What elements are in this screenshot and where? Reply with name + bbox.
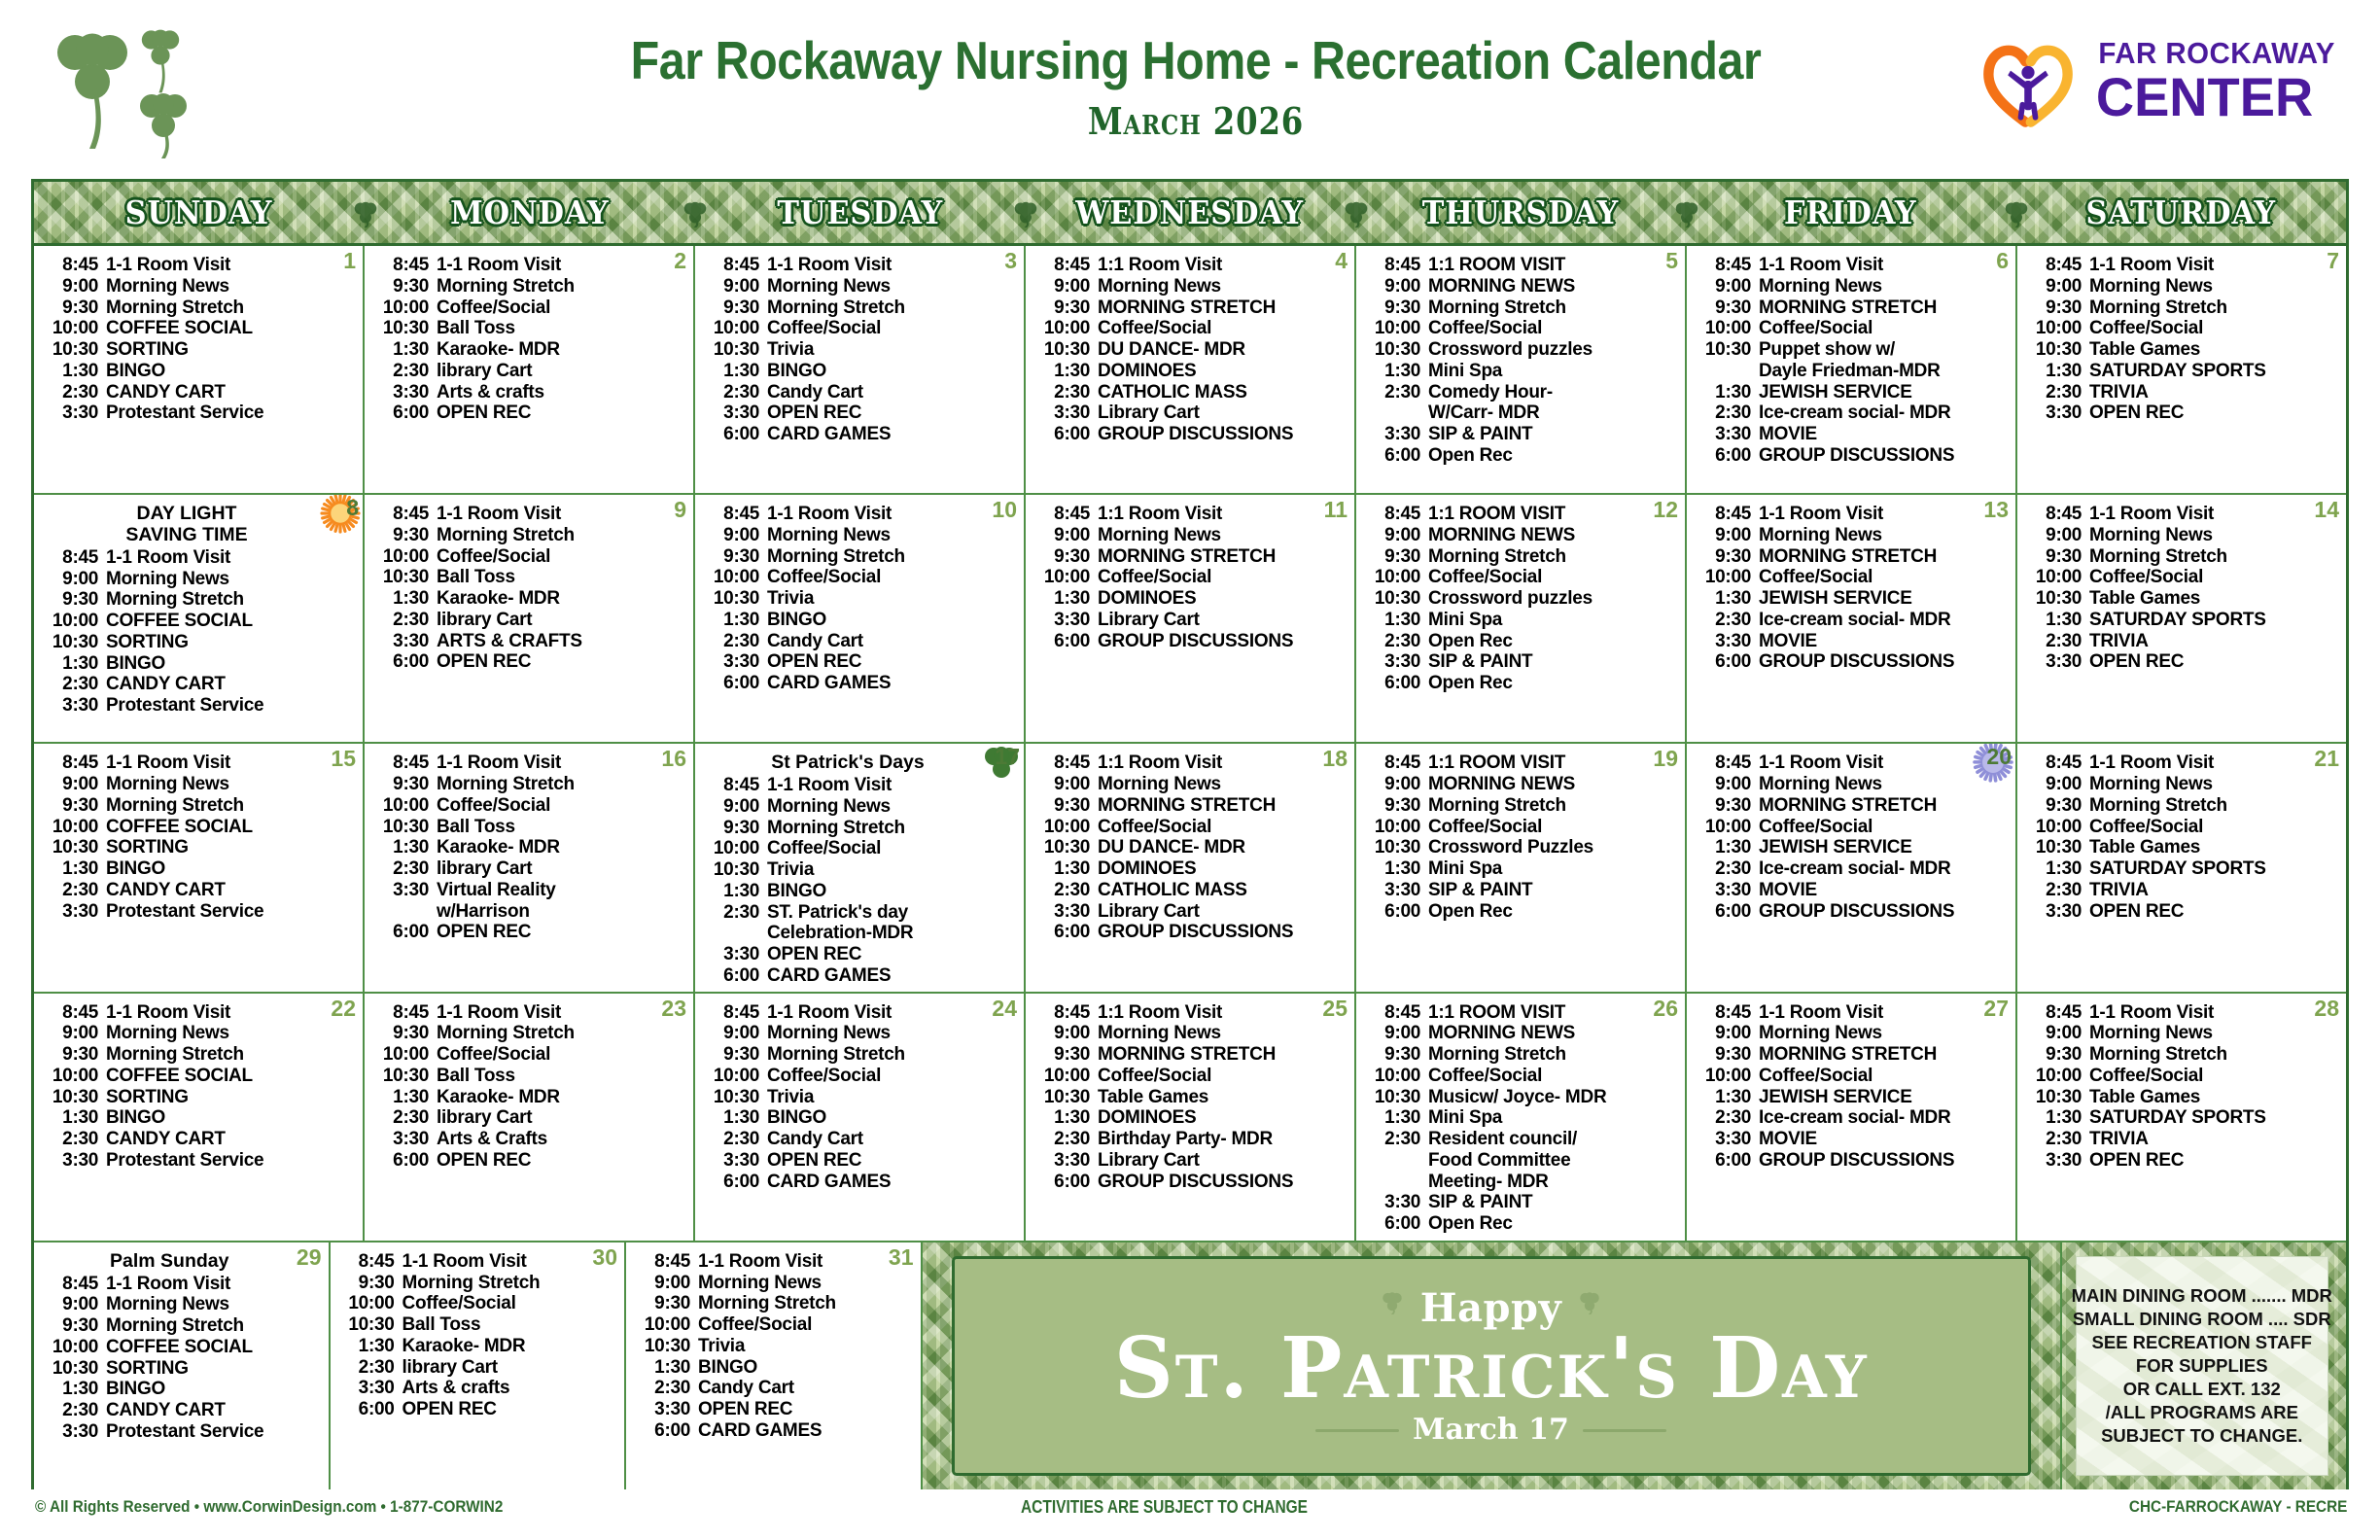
activity-item[interactable]: 2:30CANDY CART <box>40 674 359 695</box>
activity-item[interactable]: 3:30Library Cart <box>1032 610 1350 631</box>
activity-item[interactable]: 1:30Karaoke- MDR <box>370 837 689 858</box>
activity-item[interactable]: 10:00Coffee/Social <box>370 297 689 319</box>
activity-item[interactable]: 3:30Virtual Reality <box>370 880 689 901</box>
activity-item[interactable]: 10:00COFFEE SOCIAL <box>40 1066 359 1087</box>
day-cell-27[interactable]: 278:451-1 Room Visit9:00Morning News9:30… <box>1687 994 2017 1241</box>
activity-item[interactable]: 10:30Crossword puzzles <box>1362 588 1681 610</box>
activity-item[interactable]: 8:451-1 Room Visit <box>40 1002 359 1024</box>
activity-item[interactable]: 10:30SORTING <box>40 1358 325 1380</box>
activity-item[interactable]: 8:451-1 Room Visit <box>1693 752 2012 774</box>
day-cell-22[interactable]: 228:451-1 Room Visit9:00Morning News9:30… <box>34 994 365 1241</box>
activity-item[interactable]: 10:30Table Games <box>2023 1087 2342 1108</box>
activity-item[interactable]: 1:30BINGO <box>632 1357 917 1379</box>
activity-item[interactable]: 3:30OPEN REC <box>701 1150 1020 1172</box>
activity-item[interactable]: 8:451:1 Room Visit <box>1032 255 1350 276</box>
activity-item[interactable]: 9:30Morning Stretch <box>632 1293 917 1314</box>
activity-item[interactable]: 1:30BINGO <box>40 653 359 675</box>
activity-item[interactable]: 2:30TRIVIA <box>2023 1129 2342 1150</box>
day-cell-28[interactable]: 288:451-1 Room Visit9:00Morning News9:30… <box>2017 994 2346 1241</box>
activity-item[interactable]: 1:30BINGO <box>701 610 1020 631</box>
activity-item[interactable]: 3:30Arts & crafts <box>370 382 689 403</box>
activity-item[interactable]: 10:30Ball Toss <box>370 567 689 588</box>
activity-item[interactable]: 9:30Morning Stretch <box>40 1315 325 1337</box>
activity-item[interactable]: 10:00Coffee/Social <box>1032 567 1350 588</box>
day-cell-10[interactable]: 108:451-1 Room Visit9:00Morning News9:30… <box>695 495 1026 742</box>
day-cell-14[interactable]: 148:451-1 Room Visit9:00Morning News9:30… <box>2017 495 2346 742</box>
day-cell-7[interactable]: 78:451-1 Room Visit9:00Morning News9:30M… <box>2017 246 2346 493</box>
activity-item[interactable]: 8:451-1 Room Visit <box>40 752 359 774</box>
activity-item[interactable]: 1:30Mini Spa <box>1362 1107 1681 1129</box>
activity-item[interactable]: 9:00Morning News <box>1032 525 1350 546</box>
activity-item[interactable]: 3:30OPEN REC <box>701 402 1020 424</box>
activity-item[interactable]: 6:00GROUP DISCUSSIONS <box>1032 922 1350 943</box>
activity-item[interactable]: 9:30Morning Stretch <box>370 1023 689 1044</box>
activity-item[interactable]: 2:30library Cart <box>370 610 689 631</box>
activity-item[interactable]: 1:30Karaoke- MDR <box>370 588 689 610</box>
day-cell-31[interactable]: 318:451-1 Room Visit9:00Morning News9:30… <box>626 1242 923 1489</box>
activity-item[interactable]: 2:30Ice-cream social- MDR <box>1693 858 2012 880</box>
day-cell-1[interactable]: 18:451-1 Room Visit9:00Morning News9:30M… <box>34 246 365 493</box>
activity-item[interactable]: 3:30OPEN REC <box>632 1399 917 1420</box>
activity-item[interactable]: 1:30DOMINOES <box>1032 858 1350 880</box>
activity-item[interactable]: 2:30CANDY CART <box>40 1129 359 1150</box>
activity-item[interactable]: 8:451:1 Room Visit <box>1032 1002 1350 1024</box>
activity-item[interactable]: 8:451-1 Room Visit <box>2023 752 2342 774</box>
activity-item[interactable]: 10:30Ball Toss <box>370 817 689 838</box>
activity-item[interactable]: 10:00Coffee/Social <box>370 795 689 817</box>
activity-item[interactable]: 2:30Ice-cream social- MDR <box>1693 610 2012 631</box>
activity-item[interactable]: 8:451:1 ROOM VISIT <box>1362 752 1681 774</box>
activity-item[interactable]: 8:451-1 Room Visit <box>1693 504 2012 525</box>
activity-item[interactable]: 9:30Morning Stretch <box>701 1044 1020 1066</box>
day-cell-13[interactable]: 138:451-1 Room Visit9:00Morning News9:30… <box>1687 495 2017 742</box>
activity-item[interactable]: 2:30Birthday Party- MDR <box>1032 1129 1350 1150</box>
activity-item[interactable]: 10:00Coffee/Social <box>701 318 1020 339</box>
day-cell-21[interactable]: 218:451-1 Room Visit9:00Morning News9:30… <box>2017 744 2346 991</box>
activity-item[interactable]: 10:00Coffee/Social <box>701 838 1020 859</box>
activity-item[interactable]: 9:30Morning Stretch <box>1362 1044 1681 1066</box>
activity-item[interactable]: 10:00Coffee/Social <box>2023 1066 2342 1087</box>
activity-item[interactable]: 2:30Resident council/ <box>1362 1129 1681 1150</box>
activity-item[interactable]: 10:30Trivia <box>701 588 1020 610</box>
activity-item[interactable]: 8:451-1 Room Visit <box>40 547 359 569</box>
activity-item[interactable]: 9:00Morning News <box>701 276 1020 297</box>
activity-item[interactable]: 10:30DU DANCE- MDR <box>1032 837 1350 858</box>
activity-item[interactable]: 6:00GROUP DISCUSSIONS <box>1032 631 1350 652</box>
activity-item[interactable]: 9:30Morning Stretch <box>2023 1044 2342 1066</box>
activity-item[interactable]: 9:00Morning News <box>701 796 1020 818</box>
activity-item[interactable]: 3:30Arts & Crafts <box>370 1129 689 1150</box>
activity-item[interactable]: 1:30BINGO <box>701 881 1020 902</box>
activity-item[interactable]: 10:30Table Games <box>2023 588 2342 610</box>
activity-item[interactable]: 8:451-1 Room Visit <box>336 1251 621 1273</box>
activity-item[interactable]: 9:30Morning Stretch <box>701 818 1020 839</box>
activity-item[interactable]: 3:30OPEN REC <box>701 651 1020 673</box>
activity-item[interactable]: 8:451-1 Room Visit <box>370 1002 689 1024</box>
day-cell-19[interactable]: 198:451:1 ROOM VISIT9:00MORNING NEWS9:30… <box>1356 744 1687 991</box>
activity-item[interactable]: 9:30Morning Stretch <box>2023 795 2342 817</box>
activity-item[interactable]: 3:30MOVIE <box>1693 1129 2012 1150</box>
activity-item[interactable]: 10:00Coffee/Social <box>632 1314 917 1336</box>
activity-item[interactable]: 1:30JEWISH SERVICE <box>1693 1087 2012 1108</box>
activity-item[interactable]: 9:00Morning News <box>1032 1023 1350 1044</box>
activity-item[interactable]: 10:00Coffee/Social <box>336 1293 621 1314</box>
activity-item[interactable]: 10:30Table Games <box>1032 1087 1350 1108</box>
activity-item[interactable]: 3:30Library Cart <box>1032 1150 1350 1172</box>
activity-item[interactable]: Dayle Friedman-MDR <box>1693 361 2012 382</box>
activity-item[interactable]: 6:00CARD GAMES <box>632 1420 917 1442</box>
day-cell-20[interactable]: 208:451-1 Room Visit9:00Morning News9:30… <box>1687 744 2017 991</box>
activity-item[interactable]: 1:30BINGO <box>701 1107 1020 1129</box>
day-cell-24[interactable]: 248:451-1 Room Visit9:00Morning News9:30… <box>695 994 1026 1241</box>
activity-item[interactable]: 8:451:1 ROOM VISIT <box>1362 1002 1681 1024</box>
activity-item[interactable]: 9:00MORNING NEWS <box>1362 774 1681 795</box>
activity-item[interactable]: 1:30DOMINOES <box>1032 1107 1350 1129</box>
activity-item[interactable]: 10:00Coffee/Social <box>1693 1066 2012 1087</box>
activity-item[interactable]: 1:30Karaoke- MDR <box>336 1336 621 1357</box>
activity-item[interactable]: 1:30SATURDAY SPORTS <box>2023 858 2342 880</box>
activity-item[interactable]: 2:30Open Rec <box>1362 631 1681 652</box>
activity-item[interactable]: 6:00GROUP DISCUSSIONS <box>1693 901 2012 923</box>
activity-item[interactable]: 3:30Protestant Service <box>40 1150 359 1172</box>
activity-item[interactable]: 10:00COFFEE SOCIAL <box>40 817 359 838</box>
day-cell-9[interactable]: 98:451-1 Room Visit9:30Morning Stretch10… <box>365 495 695 742</box>
activity-item[interactable]: 8:451-1 Room Visit <box>2023 255 2342 276</box>
activity-item[interactable]: 3:30MOVIE <box>1693 424 2012 445</box>
activity-item[interactable]: 1:30JEWISH SERVICE <box>1693 588 2012 610</box>
activity-item[interactable]: 3:30Library Cart <box>1032 901 1350 923</box>
activity-item[interactable]: 8:451-1 Room Visit <box>701 1002 1020 1024</box>
activity-item[interactable]: 9:00Morning News <box>40 569 359 590</box>
day-cell-8[interactable]: 8DAY LIGHTSAVING TIME8:451-1 Room Visit9… <box>34 495 365 742</box>
activity-item[interactable]: 3:30Protestant Service <box>40 901 359 923</box>
activity-item[interactable]: 3:30SIP & PAINT <box>1362 424 1681 445</box>
activity-item[interactable]: 8:451:1 Room Visit <box>1032 504 1350 525</box>
activity-item[interactable]: Meeting- MDR <box>1362 1172 1681 1193</box>
activity-item[interactable]: W/Carr- MDR <box>1362 402 1681 424</box>
activity-item[interactable]: 1:30Mini Spa <box>1362 610 1681 631</box>
activity-item[interactable]: 10:00COFFEE SOCIAL <box>40 1337 325 1358</box>
activity-item[interactable]: 2:30library Cart <box>336 1357 621 1379</box>
activity-item[interactable]: 9:30Morning Stretch <box>40 589 359 611</box>
activity-item[interactable]: 9:00Morning News <box>632 1273 917 1294</box>
activity-item[interactable]: 2:30Candy Cart <box>701 382 1020 403</box>
activity-item[interactable]: 9:30MORNING STRETCH <box>1032 1044 1350 1066</box>
activity-item[interactable]: 10:30Puppet show w/ <box>1693 339 2012 361</box>
activity-item[interactable]: 1:30BINGO <box>701 361 1020 382</box>
activity-item[interactable]: 3:30MOVIE <box>1693 631 2012 652</box>
activity-item[interactable]: 2:30ST. Patrick's day <box>701 902 1020 924</box>
activity-item[interactable]: 9:30MORNING STRETCH <box>1693 1044 2012 1066</box>
activity-item[interactable]: 2:30Candy Cart <box>701 1129 1020 1150</box>
activity-item[interactable]: 3:30Protestant Service <box>40 1421 325 1443</box>
activity-item[interactable]: 2:30CATHOLIC MASS <box>1032 382 1350 403</box>
activity-item[interactable]: 3:30OPEN REC <box>701 944 1020 965</box>
activity-item[interactable]: 9:00Morning News <box>2023 525 2342 546</box>
activity-item[interactable]: 3:30MOVIE <box>1693 880 2012 901</box>
activity-item[interactable]: 6:00CARD GAMES <box>701 424 1020 445</box>
activity-item[interactable]: 3:30SIP & PAINT <box>1362 1192 1681 1213</box>
activity-name: Morning News <box>2089 1023 2213 1044</box>
activity-item[interactable]: w/Harrison <box>370 901 689 923</box>
activity-item[interactable]: 10:00Coffee/Social <box>1362 567 1681 588</box>
activity-item[interactable]: 10:30Ball Toss <box>336 1314 621 1336</box>
activity-item[interactable]: 9:30Morning Stretch <box>336 1273 621 1294</box>
activity-item[interactable]: 8:451-1 Room Visit <box>701 504 1020 525</box>
activity-item[interactable]: 1:30BINGO <box>40 361 359 382</box>
activity-item[interactable]: 10:00Coffee/Social <box>1362 817 1681 838</box>
activity-item[interactable]: 2:30Candy Cart <box>701 631 1020 652</box>
activity-item[interactable]: 9:00Morning News <box>2023 276 2342 297</box>
activity-item[interactable]: 6:00Open Rec <box>1362 673 1681 694</box>
activity-item[interactable]: 9:30Morning Stretch <box>1362 297 1681 319</box>
activity-item[interactable]: 10:30SORTING <box>40 1087 359 1108</box>
activity-item[interactable]: 10:00COFFEE SOCIAL <box>40 611 359 632</box>
activity-item[interactable]: 3:30Library Cart <box>1032 402 1350 424</box>
activity-item[interactable]: 9:30Morning Stretch <box>370 276 689 297</box>
activity-item[interactable]: 2:30TRIVIA <box>2023 631 2342 652</box>
activity-item[interactable]: 2:30Ice-cream social- MDR <box>1693 1107 2012 1129</box>
activity-item[interactable]: 10:30Crossword Puzzles <box>1362 837 1681 858</box>
activity-item[interactable]: 10:30Ball Toss <box>370 318 689 339</box>
activity-item[interactable]: 10:00Coffee/Social <box>1693 567 2012 588</box>
activity-item[interactable]: 3:30OPEN REC <box>2023 402 2342 424</box>
activity-item[interactable]: 10:30Crossword puzzles <box>1362 339 1681 361</box>
activity-item[interactable]: 1:30DOMINOES <box>1032 361 1350 382</box>
activity-item[interactable]: 10:00Coffee/Social <box>1693 318 2012 339</box>
activity-item[interactable]: 6:00OPEN REC <box>370 651 689 673</box>
activity-item[interactable]: 1:30JEWISH SERVICE <box>1693 837 2012 858</box>
activity-item[interactable]: 10:30Trivia <box>632 1336 917 1357</box>
activity-item[interactable]: 9:00Morning News <box>1693 774 2012 795</box>
activity-item[interactable]: 9:30Morning Stretch <box>40 795 359 817</box>
activity-item[interactable]: 10:30Musicw/ Joyce- MDR <box>1362 1087 1681 1108</box>
activity-item[interactable]: 9:00Morning News <box>701 525 1020 546</box>
activity-item[interactable]: 1:30DOMINOES <box>1032 588 1350 610</box>
activity-item[interactable]: 1:30Mini Spa <box>1362 361 1681 382</box>
day-cell-25[interactable]: 258:451:1 Room Visit9:00Morning News9:30… <box>1026 994 1356 1241</box>
activity-item[interactable]: 8:451-1 Room Visit <box>370 255 689 276</box>
activity-item[interactable]: 10:00Coffee/Social <box>370 546 689 568</box>
activity-item[interactable]: 3:30SIP & PAINT <box>1362 880 1681 901</box>
activity-item[interactable]: 10:30Ball Toss <box>370 1066 689 1087</box>
activity-item[interactable]: 2:30CANDY CART <box>40 1400 325 1421</box>
day-cell-6[interactable]: 68:451-1 Room Visit9:00Morning News9:30M… <box>1687 246 2017 493</box>
activity-item[interactable]: 10:00Coffee/Social <box>370 1044 689 1066</box>
activity-item[interactable]: 10:30Trivia <box>701 859 1020 881</box>
activity-item[interactable]: 10:30Trivia <box>701 339 1020 361</box>
day-cell-12[interactable]: 128:451:1 ROOM VISIT9:00MORNING NEWS9:30… <box>1356 495 1687 742</box>
activity-item[interactable]: 9:30Morning Stretch <box>701 546 1020 568</box>
activity-item[interactable]: 9:00Morning News <box>1693 276 2012 297</box>
day-cell-3[interactable]: 38:451-1 Room Visit9:00Morning News9:30M… <box>695 246 1026 493</box>
day-cell-11[interactable]: 118:451:1 Room Visit9:00Morning News9:30… <box>1026 495 1356 742</box>
activity-item[interactable]: 1:30JEWISH SERVICE <box>1693 382 2012 403</box>
activity-item[interactable]: 9:30MORNING STRETCH <box>1032 297 1350 319</box>
activity-item[interactable]: 10:30Table Games <box>2023 339 2342 361</box>
activity-item[interactable]: 2:30Candy Cart <box>632 1378 917 1399</box>
activity-item[interactable]: 2:30Comedy Hour- <box>1362 382 1681 403</box>
activity-item[interactable]: 9:00Morning News <box>40 1023 359 1044</box>
activity-item[interactable]: 9:30Morning Stretch <box>1362 795 1681 817</box>
activity-item[interactable]: 3:30SIP & PAINT <box>1362 651 1681 673</box>
activity-item[interactable]: 10:00Coffee/Social <box>1362 318 1681 339</box>
activity-item[interactable]: 6:00Open Rec <box>1362 445 1681 467</box>
activity-item[interactable]: 8:451-1 Room Visit <box>2023 1002 2342 1024</box>
activity-item[interactable]: 9:00Morning News <box>2023 1023 2342 1044</box>
activity-item[interactable]: 9:30MORNING STRETCH <box>1693 795 2012 817</box>
activity-item[interactable]: 10:00Coffee/Social <box>1032 817 1350 838</box>
activity-item[interactable]: 2:30CANDY CART <box>40 880 359 901</box>
activity-item[interactable]: 3:30OPEN REC <box>2023 1150 2342 1172</box>
activity-item[interactable]: 8:451-1 Room Visit <box>632 1251 917 1273</box>
activity-item[interactable]: Celebration-MDR <box>701 923 1020 944</box>
activity-item[interactable]: 9:30Morning Stretch <box>2023 546 2342 568</box>
day-cell-29[interactable]: 29Palm Sunday8:451-1 Room Visit9:00Morni… <box>34 1242 331 1489</box>
activity-item[interactable]: 1:30SATURDAY SPORTS <box>2023 361 2342 382</box>
day-cell-2[interactable]: 28:451-1 Room Visit9:30Morning Stretch10… <box>365 246 695 493</box>
activity-item[interactable]: 2:30CATHOLIC MASS <box>1032 880 1350 901</box>
activity-item[interactable]: 6:00GROUP DISCUSSIONS <box>1693 651 2012 673</box>
activity-item[interactable]: 9:00Morning News <box>1032 276 1350 297</box>
activity-item[interactable]: 9:30Morning Stretch <box>40 297 359 319</box>
activity-item[interactable]: 9:30Morning Stretch <box>370 525 689 546</box>
activity-item[interactable]: 1:30BINGO <box>40 858 359 880</box>
activity-item[interactable]: 1:30Karaoke- MDR <box>370 1087 689 1108</box>
activity-item[interactable]: 9:30MORNING STRETCH <box>1693 297 2012 319</box>
activity-item[interactable]: 1:30SATURDAY SPORTS <box>2023 610 2342 631</box>
activity-item[interactable]: 9:00Morning News <box>1032 774 1350 795</box>
activity-item[interactable]: 9:30Morning Stretch <box>1362 546 1681 568</box>
activity-item[interactable]: 6:00GROUP DISCUSSIONS <box>1693 445 2012 467</box>
activity-item[interactable]: 9:00MORNING NEWS <box>1362 1023 1681 1044</box>
day-cell-23[interactable]: 238:451-1 Room Visit9:30Morning Stretch1… <box>365 994 695 1241</box>
activity-item[interactable]: 9:30Morning Stretch <box>40 1044 359 1066</box>
activity-item[interactable]: 8:451-1 Room Visit <box>40 255 359 276</box>
activity-item[interactable]: 2:30library Cart <box>370 361 689 382</box>
activity-item[interactable]: 3:30Arts & crafts <box>336 1378 621 1399</box>
activity-item[interactable]: 9:00Morning News <box>40 276 359 297</box>
activity-item[interactable]: 10:30Trivia <box>701 1087 1020 1108</box>
activity-item[interactable]: 3:30ARTS & CRAFTS <box>370 631 689 652</box>
activity-item[interactable]: 8:451-1 Room Visit <box>40 1274 325 1295</box>
activity-item[interactable]: 6:00CARD GAMES <box>701 965 1020 987</box>
activity-item[interactable]: 10:00Coffee/Social <box>701 1066 1020 1087</box>
activity-item[interactable]: 10:30SORTING <box>40 632 359 653</box>
activity-item[interactable]: 8:451:1 ROOM VISIT <box>1362 504 1681 525</box>
activity-item[interactable]: 10:00Coffee/Social <box>2023 318 2342 339</box>
activity-item[interactable]: 10:00COFFEE SOCIAL <box>40 318 359 339</box>
activity-item[interactable]: 1:30Mini Spa <box>1362 858 1681 880</box>
activity-item[interactable]: 6:00GROUP DISCUSSIONS <box>1032 1172 1350 1193</box>
activity-item[interactable]: 2:30TRIVIA <box>2023 880 2342 901</box>
activity-item[interactable]: 10:30SORTING <box>40 339 359 361</box>
activity-item[interactable]: 2:30library Cart <box>370 858 689 880</box>
activity-item[interactable]: 6:00OPEN REC <box>370 922 689 943</box>
activity-item[interactable]: 9:00Morning News <box>2023 774 2342 795</box>
activity-item[interactable]: 9:00MORNING NEWS <box>1362 276 1681 297</box>
activity-item[interactable]: 10:30Table Games <box>2023 837 2342 858</box>
activity-item[interactable]: 9:00Morning News <box>40 1294 325 1315</box>
day-cell-5[interactable]: 58:451:1 ROOM VISIT9:00MORNING NEWS9:30M… <box>1356 246 1687 493</box>
activity-item[interactable]: 8:451-1 Room Visit <box>1693 255 2012 276</box>
activity-item[interactable]: 8:451-1 Room Visit <box>1693 1002 2012 1024</box>
activity-item[interactable]: 10:00Coffee/Social <box>701 567 1020 588</box>
activity-item[interactable]: 1:30BINGO <box>40 1107 359 1129</box>
activity-item[interactable]: 6:00GROUP DISCUSSIONS <box>1693 1150 2012 1172</box>
activity-item[interactable]: 10:30SORTING <box>40 837 359 858</box>
activity-item[interactable]: 1:30BINGO <box>40 1379 325 1400</box>
activity-item[interactable]: 6:00Open Rec <box>1362 901 1681 923</box>
day-cell-4[interactable]: 48:451:1 Room Visit9:00Morning News9:30M… <box>1026 246 1356 493</box>
activity-item[interactable]: 3:30Protestant Service <box>40 402 359 424</box>
activity-item[interactable]: 9:00Morning News <box>40 774 359 795</box>
activity-item[interactable]: 8:451-1 Room Visit <box>701 255 1020 276</box>
activity-item[interactable]: 9:30MORNING STRETCH <box>1032 795 1350 817</box>
activity-item[interactable]: 6:00GROUP DISCUSSIONS <box>1032 424 1350 445</box>
activity-item[interactable]: 8:451-1 Room Visit <box>370 504 689 525</box>
activity-item[interactable]: 9:00Morning News <box>1693 1023 2012 1044</box>
activity-item[interactable]: 3:30OPEN REC <box>2023 651 2342 673</box>
activity-item[interactable]: 9:00Morning News <box>1693 525 2012 546</box>
day-cell-17[interactable]: 17St Patrick's Days8:451-1 Room Visit9:0… <box>695 744 1026 991</box>
activity-item[interactable]: Food Committee <box>1362 1150 1681 1172</box>
activity-item[interactable]: 10:00Coffee/Social <box>2023 817 2342 838</box>
activity-item[interactable]: 8:451-1 Room Visit <box>701 775 1020 796</box>
activity-item[interactable]: 3:30OPEN REC <box>2023 901 2342 923</box>
activity-item[interactable]: 3:30Protestant Service <box>40 695 359 717</box>
activity-item[interactable]: 9:30Morning Stretch <box>2023 297 2342 319</box>
day-cell-26[interactable]: 268:451:1 ROOM VISIT9:00MORNING NEWS9:30… <box>1356 994 1687 1241</box>
activity-item[interactable]: 9:30MORNING STRETCH <box>1693 546 2012 568</box>
day-cell-15[interactable]: 158:451-1 Room Visit9:00Morning News9:30… <box>34 744 365 991</box>
activity-item[interactable]: 2:30library Cart <box>370 1107 689 1129</box>
activity-item[interactable]: 6:00OPEN REC <box>370 1150 689 1172</box>
activity-item[interactable]: 1:30Karaoke- MDR <box>370 339 689 361</box>
activity-item[interactable]: 9:00Morning News <box>701 1023 1020 1044</box>
activity-item[interactable]: 2:30CANDY CART <box>40 382 359 403</box>
activity-item[interactable]: 10:00Coffee/Social <box>1362 1066 1681 1087</box>
activity-item[interactable]: 10:00Coffee/Social <box>1032 1066 1350 1087</box>
activity-item[interactable]: 2:30TRIVIA <box>2023 382 2342 403</box>
activity-item[interactable]: 8:451-1 Room Visit <box>2023 504 2342 525</box>
day-cell-16[interactable]: 168:451-1 Room Visit9:30Morning Stretch1… <box>365 744 695 991</box>
activity-item[interactable]: 10:00Coffee/Social <box>1032 318 1350 339</box>
activity-name: Morning News <box>1098 1023 1221 1044</box>
activity-item[interactable]: 9:30Morning Stretch <box>370 774 689 795</box>
activity-item[interactable]: 6:00OPEN REC <box>370 402 689 424</box>
activity-item[interactable]: 6:00OPEN REC <box>336 1399 621 1420</box>
activity-item[interactable]: 10:30DU DANCE- MDR <box>1032 339 1350 361</box>
day-cell-18[interactable]: 188:451:1 Room Visit9:00Morning News9:30… <box>1026 744 1356 991</box>
day-cell-30[interactable]: 308:451-1 Room Visit9:30Morning Stretch1… <box>331 1242 627 1489</box>
activity-item[interactable]: 9:00MORNING NEWS <box>1362 525 1681 546</box>
activity-name: OPEN REC <box>437 922 531 943</box>
activity-item[interactable]: 8:451:1 ROOM VISIT <box>1362 255 1681 276</box>
activity-item[interactable]: 10:00Coffee/Social <box>1693 817 2012 838</box>
day-number: 18 <box>1322 746 1347 772</box>
activity-item[interactable]: 2:30Ice-cream social- MDR <box>1693 402 2012 424</box>
activity-item[interactable]: 1:30SATURDAY SPORTS <box>2023 1107 2342 1129</box>
activity-item[interactable]: 6:00Open Rec <box>1362 1213 1681 1235</box>
activity-item[interactable]: 6:00CARD GAMES <box>701 673 1020 694</box>
activity-item[interactable]: 9:30MORNING STRETCH <box>1032 546 1350 568</box>
activity-item[interactable]: 8:451:1 Room Visit <box>1032 752 1350 774</box>
activity-item[interactable]: 10:00Coffee/Social <box>2023 567 2342 588</box>
activity-item[interactable]: 8:451-1 Room Visit <box>370 752 689 774</box>
activity-item[interactable]: 9:30Morning Stretch <box>701 297 1020 319</box>
activity-item[interactable]: 6:00CARD GAMES <box>701 1172 1020 1193</box>
